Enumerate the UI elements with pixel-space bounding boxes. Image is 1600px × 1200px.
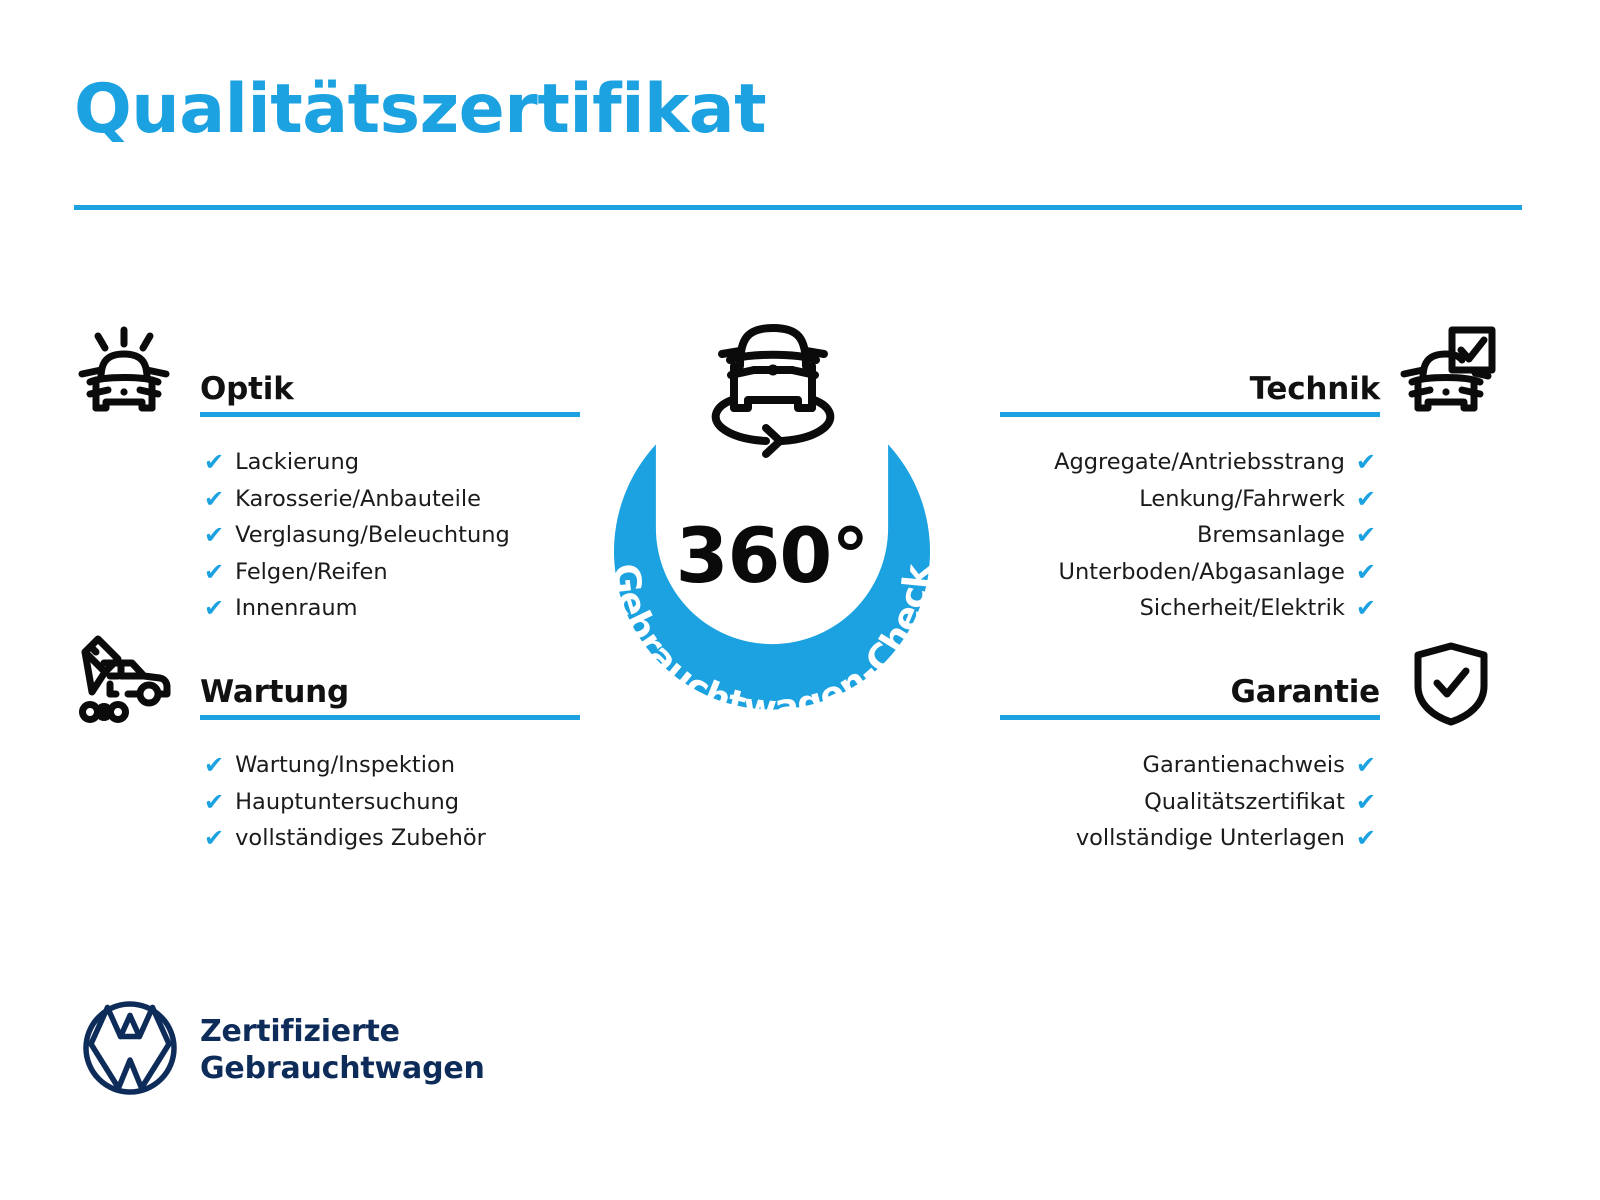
list-item-label: Innenraum	[235, 590, 357, 627]
section-garantie-list: Garantienachweis✔ Qualitätszertifikat✔ v…	[1000, 747, 1376, 857]
check-icon: ✔	[204, 826, 224, 850]
footer-line-2: Gebrauchtwagen	[200, 1050, 485, 1088]
list-item: ✔Felgen/Reifen	[204, 554, 580, 591]
list-item-label: Felgen/Reifen	[235, 554, 388, 591]
section-technik: Technik Aggregate/Antriebsstrang✔ Lenkun…	[1000, 355, 1380, 627]
badge-center-value: 360°	[567, 518, 977, 594]
vw-roundel-logo	[82, 1000, 178, 1100]
section-optik-divider	[200, 412, 580, 417]
section-wartung: Wartung ✔Wartung/Inspektion ✔Hauptunters…	[200, 658, 580, 857]
list-item: ✔Verglasung/Beleuchtung	[204, 517, 580, 554]
page-title: Qualitätszertifikat	[74, 76, 766, 144]
section-optik-list: ✔Lackierung ✔Karosserie/Anbauteile ✔Verg…	[204, 444, 580, 627]
section-wartung-list: ✔Wartung/Inspektion ✔Hauptuntersuchung ✔…	[204, 747, 580, 857]
check-icon: ✔	[1356, 487, 1376, 511]
check-icon: ✔	[204, 596, 224, 620]
section-optik: Optik ✔Lackierung ✔Karosserie/Anbauteile…	[200, 355, 580, 627]
check-icon: ✔	[1356, 450, 1376, 474]
shield-check-icon	[1412, 642, 1490, 730]
check-icon: ✔	[204, 790, 224, 814]
list-item-label: Lackierung	[235, 444, 359, 481]
section-optik-header: Optik	[200, 355, 580, 417]
list-item-label: Garantienachweis	[1143, 747, 1345, 784]
list-item-label: Qualitätszertifikat	[1144, 784, 1345, 821]
footer-logo-block: Zertifizierte Gebrauchtwagen	[82, 1000, 485, 1100]
check-icon: ✔	[204, 523, 224, 547]
section-technik-list: Aggregate/Antriebsstrang✔ Lenkung/Fahrwe…	[1000, 444, 1376, 627]
list-item-label: Hauptuntersuchung	[235, 784, 459, 821]
car-front-shine-icon	[74, 326, 174, 420]
list-item: Aggregate/Antriebsstrang✔	[1000, 444, 1376, 481]
section-wartung-title: Wartung	[200, 674, 349, 710]
list-item-label: Bremsanlage	[1197, 517, 1345, 554]
list-item-label: Lenkung/Fahrwerk	[1139, 481, 1345, 518]
section-wartung-divider	[200, 715, 580, 720]
section-technik-header: Technik	[1000, 355, 1380, 417]
section-wartung-header: Wartung	[200, 658, 580, 720]
check-icon: ✔	[204, 487, 224, 511]
check-icon: ✔	[204, 450, 224, 474]
list-item: ✔Hauptuntersuchung	[204, 784, 580, 821]
list-item: Sicherheit/Elektrik✔	[1000, 590, 1376, 627]
list-item: Bremsanlage✔	[1000, 517, 1376, 554]
list-item: ✔Lackierung	[204, 444, 580, 481]
list-item-label: Unterboden/Abgasanlage	[1059, 554, 1345, 591]
section-garantie-title: Garantie	[1230, 674, 1380, 710]
car-front-checkbox-icon	[1396, 326, 1496, 420]
list-item: vollständige Unterlagen✔	[1000, 820, 1376, 857]
check-icon: ✔	[1356, 560, 1376, 584]
section-optik-title: Optik	[200, 371, 294, 407]
footer-text: Zertifizierte Gebrauchtwagen	[200, 1013, 485, 1088]
list-item: ✔Karosserie/Anbauteile	[204, 481, 580, 518]
list-item: ✔vollständiges Zubehör	[204, 820, 580, 857]
check-icon: ✔	[1356, 523, 1376, 547]
list-item: Qualitätszertifikat✔	[1000, 784, 1376, 821]
section-garantie-divider	[1000, 715, 1380, 720]
check-icon: ✔	[1356, 596, 1376, 620]
list-item-label: Verglasung/Beleuchtung	[235, 517, 510, 554]
section-technik-title: Technik	[1250, 371, 1380, 407]
section-garantie-header: Garantie	[1000, 658, 1380, 720]
list-item: Unterboden/Abgasanlage✔	[1000, 554, 1376, 591]
list-item: ✔Innenraum	[204, 590, 580, 627]
car-front-rotate-icon	[688, 312, 858, 462]
list-item-label: Sicherheit/Elektrik	[1140, 590, 1345, 627]
list-item: ✔Wartung/Inspektion	[204, 747, 580, 784]
list-item-label: Wartung/Inspektion	[235, 747, 455, 784]
check-icon: ✔	[1356, 753, 1376, 777]
check-icon: ✔	[204, 560, 224, 584]
header-divider	[74, 205, 1522, 210]
pencil-car-service-icon	[74, 632, 174, 728]
section-technik-divider	[1000, 412, 1380, 417]
section-garantie: Garantie Garantienachweis✔ Qualitätszert…	[1000, 658, 1380, 857]
list-item-label: Karosserie/Anbauteile	[235, 481, 481, 518]
certificate-page: Qualitätszertifikat	[0, 0, 1600, 1200]
check-icon: ✔	[1356, 826, 1376, 850]
list-item-label: vollständige Unterlagen	[1076, 820, 1345, 857]
check-icon: ✔	[1356, 790, 1376, 814]
list-item: Garantienachweis✔	[1000, 747, 1376, 784]
list-item-label: Aggregate/Antriebsstrang	[1054, 444, 1345, 481]
check-icon: ✔	[204, 753, 224, 777]
list-item-label: vollständiges Zubehör	[235, 820, 486, 857]
footer-line-1: Zertifizierte	[200, 1013, 485, 1051]
list-item: Lenkung/Fahrwerk✔	[1000, 481, 1376, 518]
